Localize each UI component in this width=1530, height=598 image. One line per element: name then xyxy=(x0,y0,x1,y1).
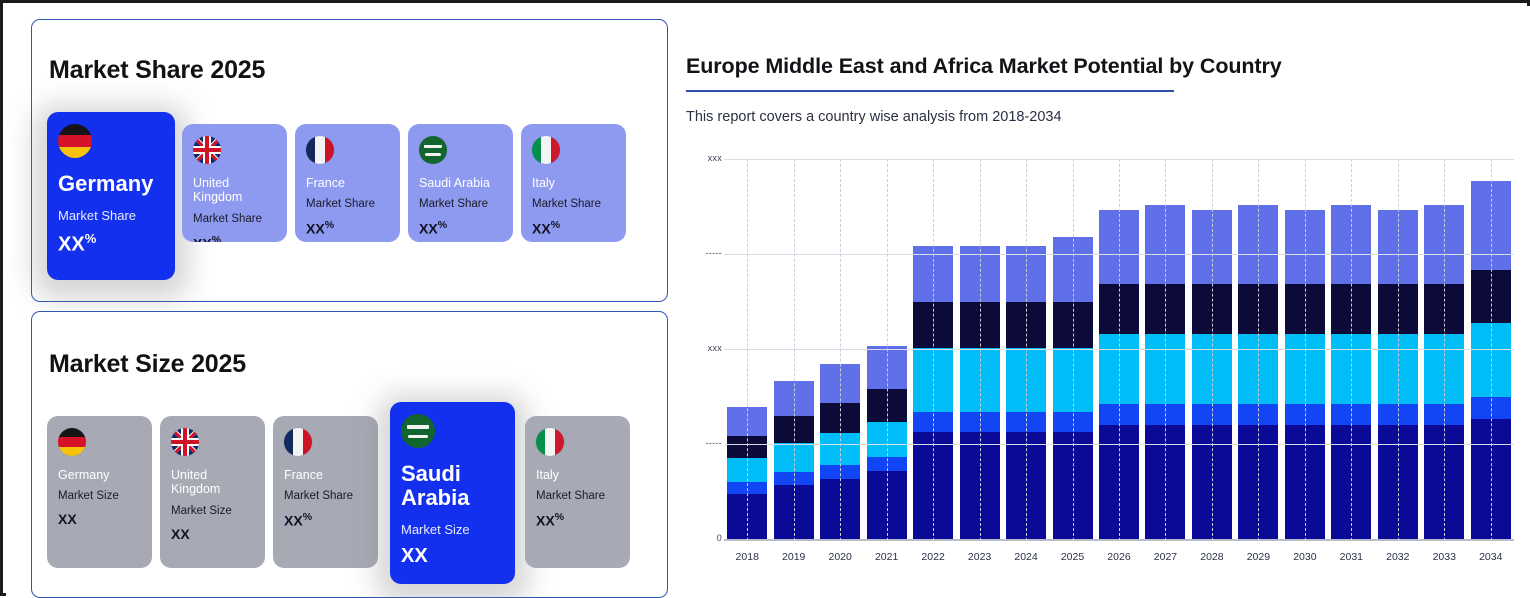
y-axis-tick-label: xxx xyxy=(708,153,722,163)
x-axis-tick-label: 2026 xyxy=(1096,551,1142,563)
country-card-united-kingdom[interactable]: United KingdomMarket SizeXX xyxy=(160,416,265,568)
country-card-germany[interactable]: GermanyMarket SizeXX xyxy=(47,416,152,568)
country-card-metric-label: Market Share xyxy=(193,213,276,225)
vertical-gridline xyxy=(1073,159,1075,541)
country-card-saudi-arabia[interactable]: Saudi ArabiaMarket SizeXX xyxy=(390,402,515,584)
title-underline-rule xyxy=(686,90,1174,92)
x-axis-tick-label: 2019 xyxy=(770,551,816,563)
percent-sign: % xyxy=(555,511,564,523)
country-card-metric-label: Market Share xyxy=(284,490,367,502)
x-axis-tick-label: 2031 xyxy=(1328,551,1374,563)
flag-france-icon xyxy=(306,136,334,164)
country-card-metric-label: Market Size xyxy=(58,490,141,502)
screenshot-frame: Market Share 2025 GermanyMarket ShareXX%… xyxy=(0,0,1530,596)
country-card-metric-value: XX% xyxy=(58,231,164,257)
country-card-united-kingdom[interactable]: United KingdomMarket ShareXX% xyxy=(182,124,287,242)
country-card-metric-value: XX xyxy=(171,526,254,542)
country-card-metric-label: Market Size xyxy=(171,505,254,517)
country-card-metric-label: Market Share xyxy=(536,490,619,502)
flag-saudi-arabia-icon xyxy=(419,136,447,164)
country-card-name: Saudi Arabia xyxy=(419,176,502,190)
x-axis-tick-label: 2033 xyxy=(1421,551,1467,563)
chart-section: Europe Middle East and Africa Market Pot… xyxy=(682,14,1512,592)
left-column: Market Share 2025 GermanyMarket ShareXX%… xyxy=(31,14,671,592)
chart-title: Europe Middle East and Africa Market Pot… xyxy=(686,54,1282,79)
x-axis-tick-label: 2029 xyxy=(1235,551,1281,563)
flag-united-kingdom-icon xyxy=(193,136,221,164)
market-size-title: Market Size 2025 xyxy=(49,350,246,379)
y-axis-tick-labels: xxx-----xxx-----0 xyxy=(682,159,722,541)
vertical-gridline xyxy=(1305,159,1307,541)
country-card-france[interactable]: FranceMarket ShareXX% xyxy=(273,416,378,568)
country-card-metric-value: XX% xyxy=(306,219,389,237)
y-axis-tick-label: xxx xyxy=(708,343,722,353)
plot-area xyxy=(724,159,1514,541)
country-card-metric-value: XX xyxy=(58,511,141,527)
percent-sign: % xyxy=(325,219,334,231)
flag-united-kingdom-icon xyxy=(171,428,199,456)
percent-sign: % xyxy=(438,219,447,231)
country-card-metric-label: Market Share xyxy=(419,198,502,210)
vertical-gridline xyxy=(1165,159,1167,541)
market-share-title: Market Share 2025 xyxy=(49,56,265,85)
vertical-gridline xyxy=(1351,159,1353,541)
y-axis-tick-label: ----- xyxy=(706,248,723,258)
percent-sign: % xyxy=(303,511,312,523)
country-card-metric-value: XX% xyxy=(193,234,276,242)
market-share-panel: Market Share 2025 GermanyMarket ShareXX%… xyxy=(31,19,668,302)
country-card-metric-label: Market Share xyxy=(532,198,615,210)
percent-sign: % xyxy=(85,231,97,246)
x-axis-tick-label: 2030 xyxy=(1282,551,1328,563)
country-card-name: Italy xyxy=(532,176,615,190)
flag-italy-icon xyxy=(536,428,564,456)
x-axis-tick-label: 2024 xyxy=(1003,551,1049,563)
market-size-panel: Market Size 2025 GermanyMarket SizeXXUni… xyxy=(31,311,668,598)
x-axis-tick-label: 2027 xyxy=(1142,551,1188,563)
x-axis-tick-label: 2022 xyxy=(910,551,956,563)
vertical-gridline xyxy=(1491,159,1493,541)
flag-saudi-arabia-icon xyxy=(401,414,435,448)
vertical-gridline xyxy=(794,159,796,541)
country-card-saudi-arabia[interactable]: Saudi ArabiaMarket ShareXX% xyxy=(408,124,513,242)
country-card-name: Germany xyxy=(58,468,141,482)
vertical-gridline xyxy=(1119,159,1121,541)
country-card-name: United Kingdom xyxy=(171,468,254,497)
vertical-gridline xyxy=(1258,159,1260,541)
country-card-germany[interactable]: GermanyMarket ShareXX% xyxy=(47,112,175,280)
x-axis-tick-label: 2028 xyxy=(1189,551,1235,563)
page-root: Market Share 2025 GermanyMarket ShareXX%… xyxy=(6,6,1530,596)
country-card-name: Italy xyxy=(536,468,619,482)
country-card-italy[interactable]: ItalyMarket ShareXX% xyxy=(525,416,630,568)
x-axis-tick-label: 2020 xyxy=(817,551,863,563)
percent-sign: % xyxy=(212,234,221,242)
x-axis-tick-label: 2025 xyxy=(1049,551,1095,563)
flag-france-icon xyxy=(284,428,312,456)
vertical-gridline xyxy=(933,159,935,541)
country-card-metric-value: XX xyxy=(401,545,504,568)
vertical-gridline xyxy=(1398,159,1400,541)
percent-sign: % xyxy=(551,219,560,231)
vertical-gridline xyxy=(747,159,749,541)
country-card-name: France xyxy=(306,176,389,190)
x-axis-tick-label: 2018 xyxy=(724,551,770,563)
country-card-metric-label: Market Size xyxy=(401,522,504,537)
vertical-gridline xyxy=(1026,159,1028,541)
country-card-france[interactable]: FranceMarket ShareXX% xyxy=(295,124,400,242)
country-card-metric-value: XX% xyxy=(284,511,367,529)
vertical-gridline xyxy=(1444,159,1446,541)
chart-subtitle: This report covers a country wise analys… xyxy=(686,109,1062,125)
country-card-name: Germany xyxy=(58,172,164,196)
x-axis-tick-label: 2032 xyxy=(1375,551,1421,563)
flag-italy-icon xyxy=(532,136,560,164)
vertical-gridline xyxy=(840,159,842,541)
vertical-gridline xyxy=(980,159,982,541)
x-axis-tick-labels: 2018201920202021202220232024202520262027… xyxy=(724,551,1514,571)
country-card-name: Saudi Arabia xyxy=(401,462,504,510)
vertical-gridline xyxy=(887,159,889,541)
country-card-metric-value: XX% xyxy=(419,219,502,237)
country-card-metric-label: Market Share xyxy=(58,208,164,223)
flag-germany-icon xyxy=(58,124,92,158)
y-axis-tick-label: 0 xyxy=(717,533,722,543)
country-card-metric-value: XX% xyxy=(532,219,615,237)
country-card-metric-label: Market Share xyxy=(306,198,389,210)
country-card-name: France xyxy=(284,468,367,482)
y-axis-tick-label: ----- xyxy=(706,438,723,448)
x-axis-tick-label: 2023 xyxy=(956,551,1002,563)
x-axis-tick-label: 2021 xyxy=(863,551,909,563)
country-card-italy[interactable]: ItalyMarket ShareXX% xyxy=(521,124,626,242)
flag-germany-icon xyxy=(58,428,86,456)
x-axis-tick-label: 2034 xyxy=(1468,551,1514,563)
chart-plot: xxx-----xxx-----0 2018201920202021202220… xyxy=(682,159,1512,559)
country-card-name: United Kingdom xyxy=(193,176,276,205)
country-card-metric-value: XX% xyxy=(536,511,619,529)
vertical-gridline xyxy=(1212,159,1214,541)
